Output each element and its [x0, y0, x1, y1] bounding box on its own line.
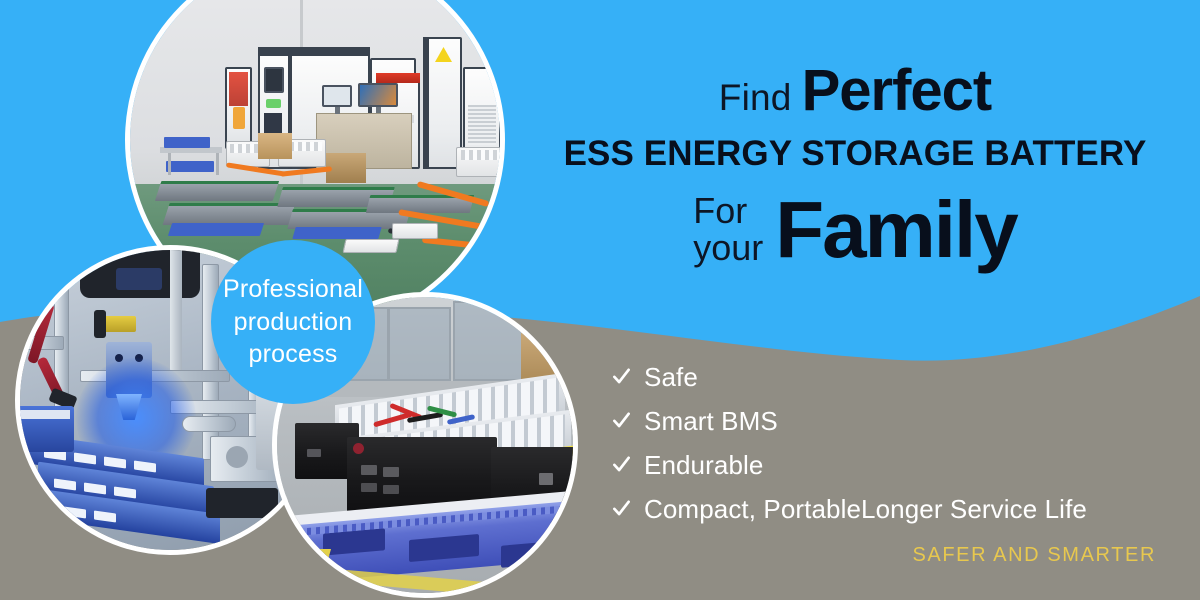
feature-list: Safe Smart BMS Endurable Compact, Portab… — [612, 362, 1087, 525]
feature-item-safe: Safe — [612, 362, 1087, 393]
headline-block: Find Perfect ESS ENERGY STORAGE BATTERY … — [545, 62, 1165, 270]
badge-line-3: process — [249, 338, 338, 371]
headline-row-for-your-family: For your Family — [545, 190, 1165, 270]
headline-for-your: For your — [693, 193, 763, 266]
headline-product-name: ESS ENERGY STORAGE BATTERY — [545, 134, 1165, 174]
headline-perfect: Perfect — [802, 62, 992, 120]
feature-label: Endurable — [644, 450, 763, 481]
badge-line-2: production — [234, 306, 353, 339]
feature-item-compact-portable: Compact, PortableLonger Service Life — [612, 494, 1087, 525]
feature-item-smart-bms: Smart BMS — [612, 406, 1087, 437]
check-icon — [612, 367, 631, 386]
check-icon — [612, 499, 631, 518]
badge-line-1: Professional — [223, 273, 363, 306]
feature-label: Smart BMS — [644, 406, 778, 437]
feature-label: Safe — [644, 362, 698, 393]
headline-for: For — [693, 193, 763, 230]
headline-find: Find — [719, 77, 792, 119]
marketing-banner: Professional production process Find Per… — [0, 0, 1200, 600]
headline-row-find-perfect: Find Perfect — [545, 62, 1165, 120]
feature-label: Compact, PortableLonger Service Life — [644, 494, 1087, 525]
headline-family: Family — [775, 190, 1016, 270]
professional-production-badge: Professional production process — [211, 240, 375, 404]
check-icon — [612, 455, 631, 474]
tagline: SAFER AND SMARTER — [912, 544, 1156, 567]
check-icon — [612, 411, 631, 430]
headline-your: your — [693, 230, 763, 267]
feature-item-endurable: Endurable — [612, 450, 1087, 481]
